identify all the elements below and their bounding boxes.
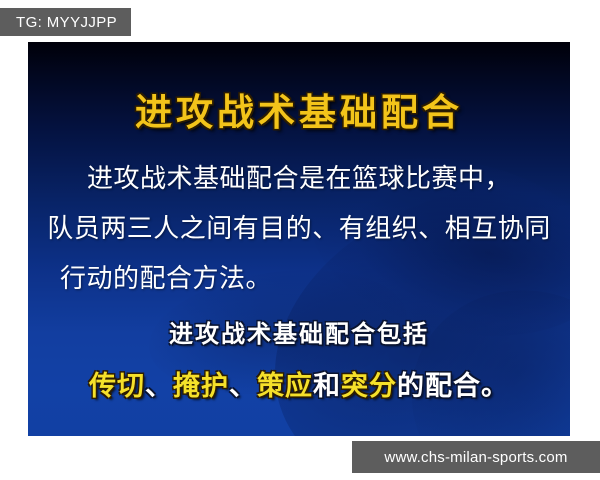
slide-body-text: 进攻战术基础配合是在篮球比赛中， 队员两三人之间有目的、有组织、相互协同 行动的… (42, 154, 556, 304)
watermark-url: www.chs-milan-sports.com (352, 441, 600, 473)
highlight-segment-3: 策应 (257, 371, 313, 402)
slide-subheading: 进攻战术基础配合包括 (28, 314, 570, 349)
highlight-suffix: 的配合。 (397, 371, 509, 402)
page-root: TG: MYYJJPP 进攻战术基础配合 进攻战术基础配合是在篮球比赛中， 队员… (0, 0, 600, 480)
slide-title: 进攻战术基础配合 (28, 92, 570, 134)
tag-badge-label: TG: MYYJJPP (16, 14, 117, 31)
highlight-separator-1: 、 (145, 371, 173, 402)
highlight-segment-2: 掩护 (173, 371, 229, 402)
highlight-segment-4: 突分 (341, 371, 397, 402)
slide-highlight-line: 传切、掩护、策应和突分的配合。 (28, 364, 570, 403)
highlight-segment-1: 传切 (89, 371, 145, 402)
body-line-2: 队员两三人之间有目的、有组织、相互协同 (42, 204, 556, 254)
highlight-conjunction: 和 (313, 371, 341, 402)
body-line-3: 行动的配合方法。 (42, 254, 556, 304)
watermark-label: www.chs-milan-sports.com (384, 449, 567, 466)
highlight-separator-2: 、 (229, 371, 257, 402)
body-line-1: 进攻战术基础配合是在篮球比赛中， (42, 154, 556, 204)
tag-badge: TG: MYYJJPP (0, 8, 131, 36)
slide-content: 进攻战术基础配合 进攻战术基础配合是在篮球比赛中， 队员两三人之间有目的、有组织… (28, 42, 570, 436)
presentation-slide: 进攻战术基础配合 进攻战术基础配合是在篮球比赛中， 队员两三人之间有目的、有组织… (28, 42, 570, 436)
